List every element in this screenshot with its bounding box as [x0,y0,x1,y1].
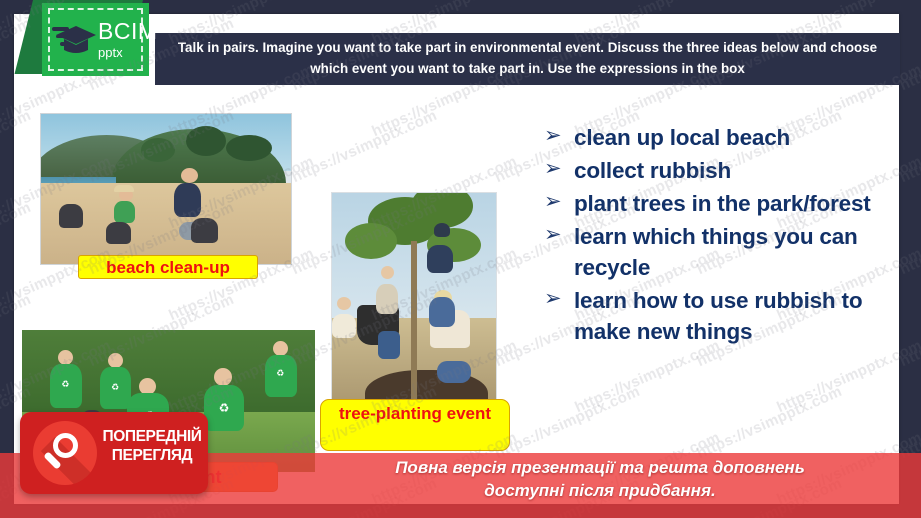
list-item-label: learn which things you can recycle [574,221,900,283]
list-item: ➢ learn which things you can recycle [544,221,900,283]
arrow-bullet-icon: ➢ [544,285,574,314]
purchase-notice-text: Повна версія презентації та решта доповн… [300,457,900,502]
magnifier-icon [33,421,97,485]
list-item-label: learn how to use rubbish to make new thi… [574,285,900,347]
slide-canvas: ♻ ♻ ♻ ♻ ♻ [0,0,921,518]
list-item: ➢ collect rubbish [544,155,900,186]
arrow-bullet-icon: ➢ [544,221,574,250]
beach-clean-up-photo [40,113,292,265]
instruction-banner: Talk in pairs. Imagine you want to take … [155,33,900,85]
preview-badge-text: ПОПЕРЕДНІЙ ПЕРЕГЛЯД [100,428,204,466]
logo-title: BCIM [98,20,158,43]
preview-badge-line-1: ПОПЕРЕДНІЙ [100,428,204,447]
list-item-label: collect rubbish [574,155,900,186]
caption-tree-planting-event: tree-planting event [320,399,510,451]
arrow-bullet-icon: ➢ [544,122,574,151]
list-item: ➢ learn how to use rubbish to make new t… [544,285,900,347]
tree-planting-photo [331,192,497,410]
list-item: ➢ clean up local beach [544,122,900,153]
list-item-label: plant trees in the park/forest [574,188,900,219]
caption-beach-clean-up: beach clean-up [78,255,258,279]
bcim-logo: BCIM pptx [42,3,149,76]
preview-badge-line-2: ПЕРЕГЛЯД [100,447,204,466]
graduation-cap-icon [55,23,97,57]
logo-subtitle: pptx [98,46,158,59]
logo-text: BCIM pptx [98,20,158,59]
arrow-bullet-icon: ➢ [544,155,574,184]
instruction-text: Talk in pairs. Imagine you want to take … [155,38,900,80]
list-item: ➢ plant trees in the park/forest [544,188,900,219]
list-item-label: clean up local beach [574,122,900,153]
preview-badge: ПОПЕРЕДНІЙ ПЕРЕГЛЯД [20,412,208,494]
ideas-list: ➢ clean up local beach ➢ collect rubbish… [544,122,900,349]
notice-line-1: Повна версія презентації та решта доповн… [300,457,900,480]
arrow-bullet-icon: ➢ [544,188,574,217]
notice-line-2: доступні після придбання. [300,480,900,503]
